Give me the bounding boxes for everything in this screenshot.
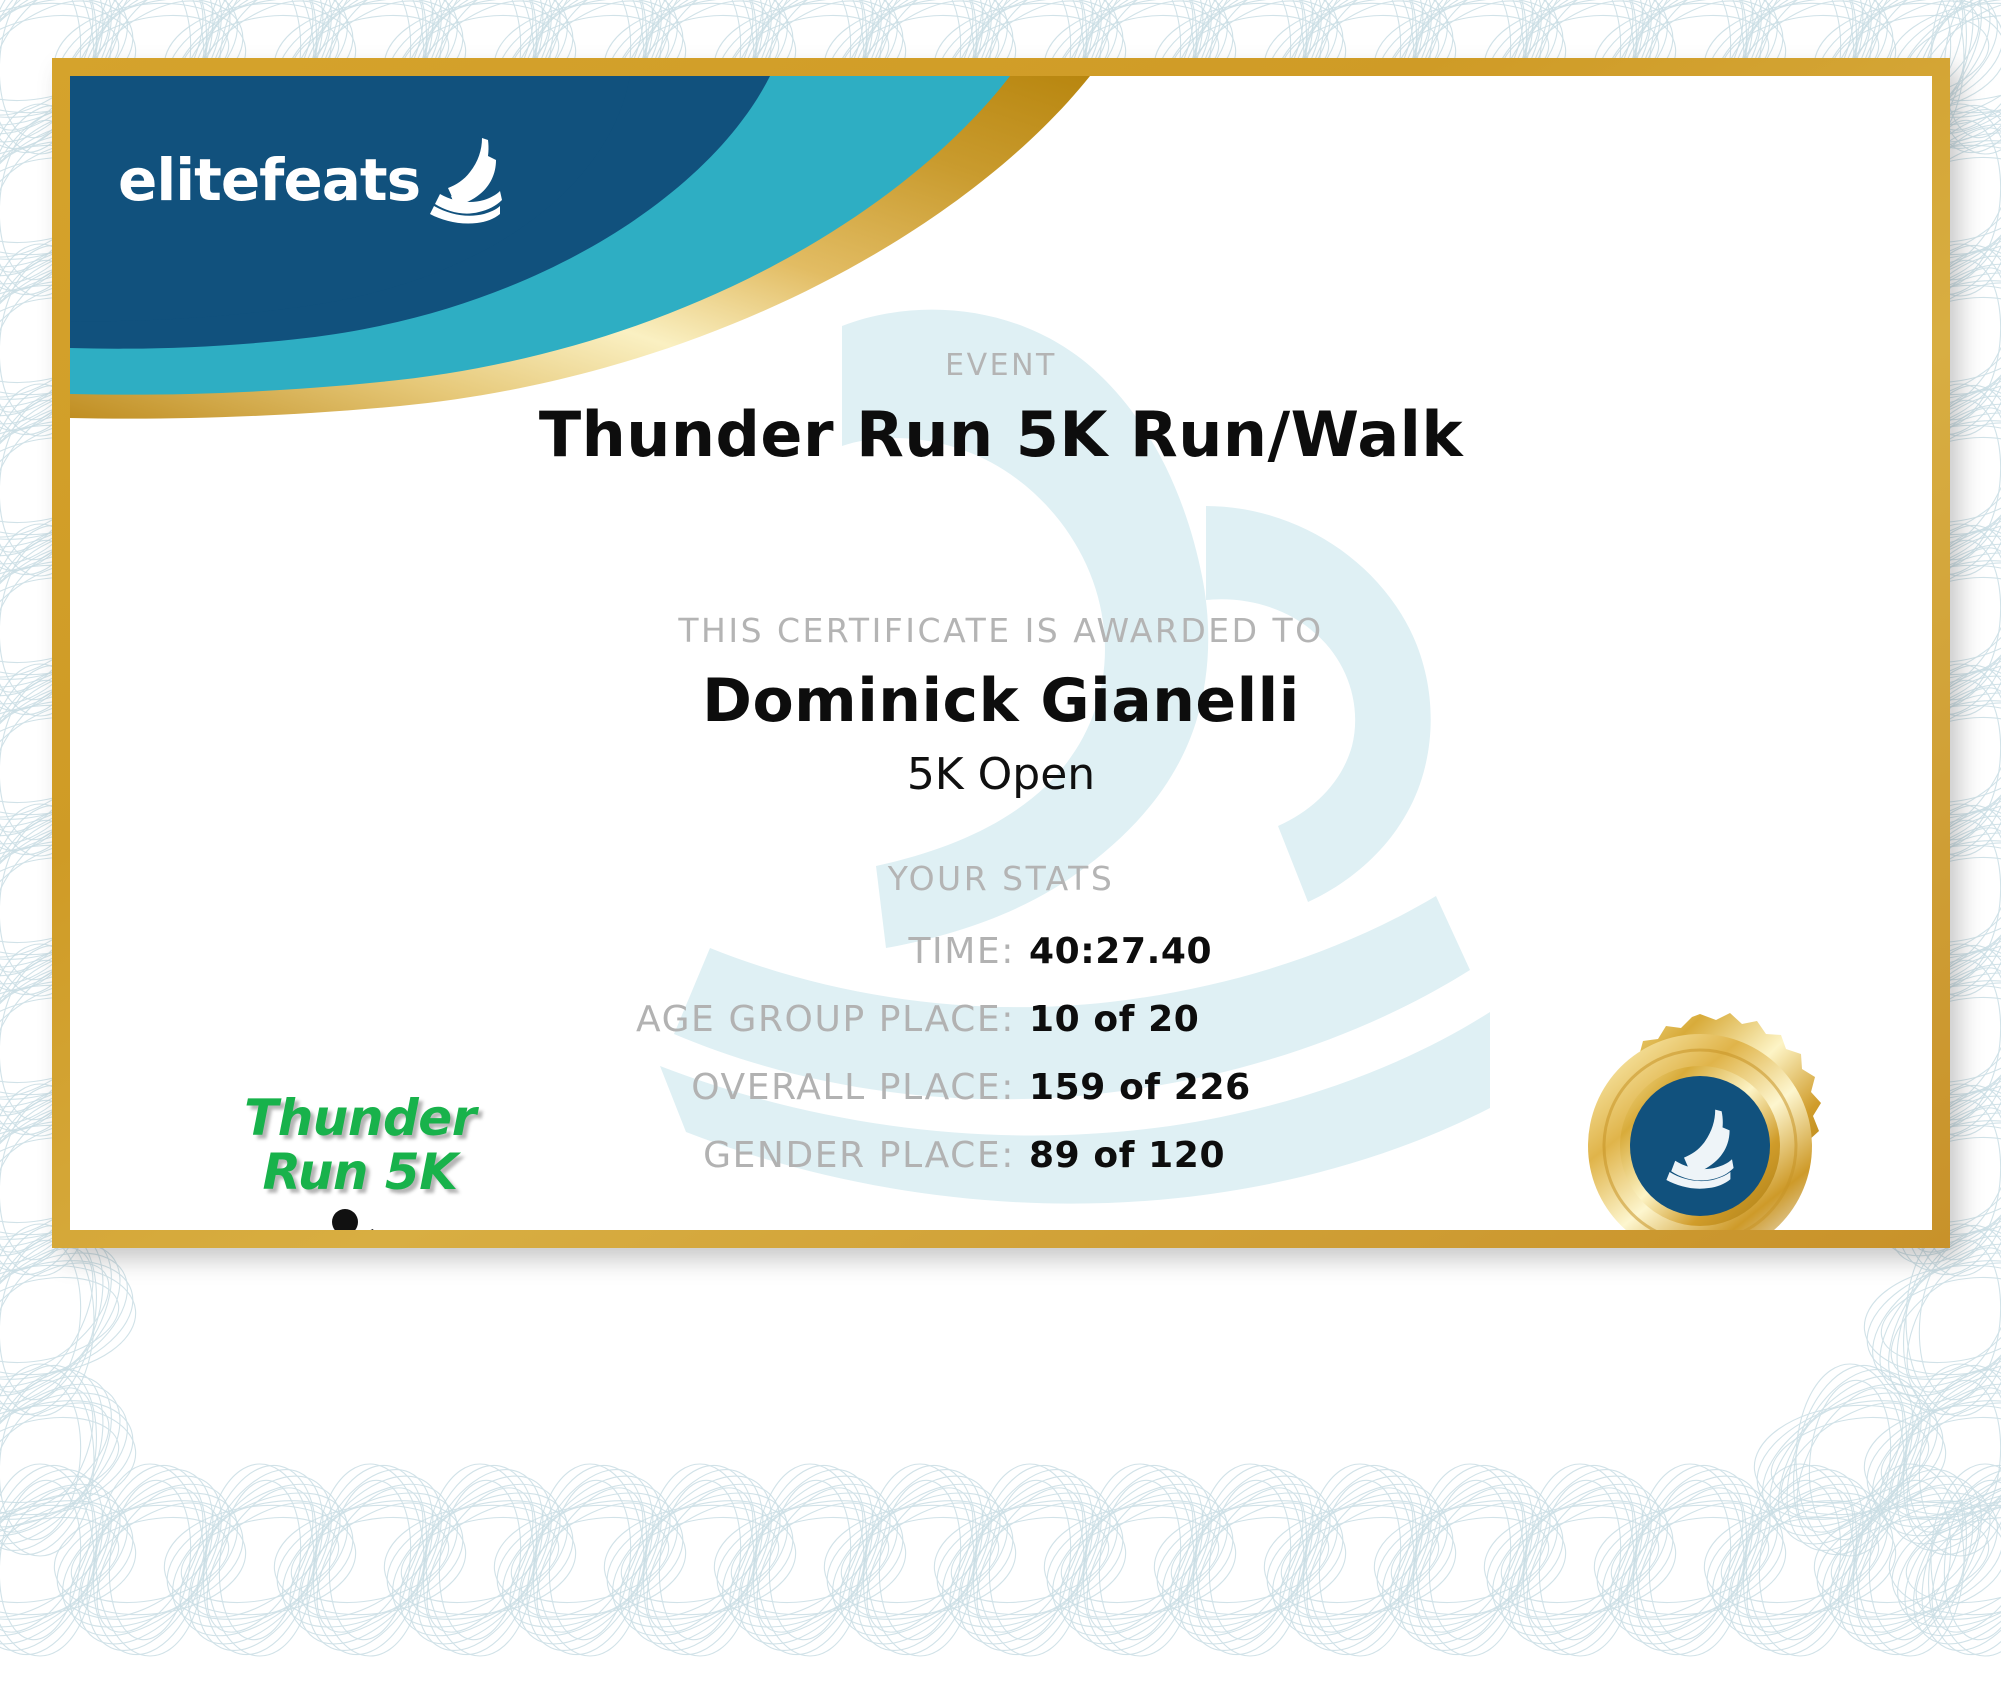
event-label: EVENT bbox=[70, 348, 1932, 383]
race-logo-line-1: Thunder bbox=[205, 1091, 515, 1145]
awarded-to-label: THIS CERTIFICATE IS AWARDED TO bbox=[70, 611, 1932, 650]
stat-row-time: TIME: 40:27.40 bbox=[70, 931, 1932, 999]
race-logo-line-2: Run 5K bbox=[205, 1145, 515, 1199]
stat-value-age-group-place: 10 of 20 bbox=[1029, 999, 1199, 1040]
runner-and-wheelchair-athlete-icon bbox=[245, 1207, 475, 1230]
stat-label-time: TIME: bbox=[70, 931, 1015, 972]
stat-label-age-group-place: AGE GROUP PLACE: bbox=[70, 999, 1015, 1040]
stat-value-overall-place: 159 of 226 bbox=[1029, 1067, 1251, 1108]
stat-value-gender-place: 89 of 120 bbox=[1029, 1135, 1225, 1176]
certificate-content: EVENT Thunder Run 5K Run/Walk THIS CERTI… bbox=[70, 76, 1932, 1230]
stat-value-time: 40:27.40 bbox=[1029, 931, 1212, 972]
finisher-medal: 2023 bbox=[1550, 1011, 1850, 1230]
event-name: Thunder Run 5K Run/Walk bbox=[70, 398, 1932, 471]
athlete-name: Dominick Gianelli bbox=[70, 666, 1932, 736]
your-stats-label: YOUR STATS bbox=[70, 859, 1932, 898]
certificate-body: elitefeats EVENT Thunder Run 5K Run/Walk… bbox=[70, 76, 1932, 1230]
division-name: 5K Open bbox=[70, 749, 1932, 800]
race-logo: Thunder Run 5K bbox=[205, 1091, 515, 1230]
certificate-paper: elitefeats EVENT Thunder Run 5K Run/Walk… bbox=[0, 0, 2001, 1700]
certificate-gold-frame: elitefeats EVENT Thunder Run 5K Run/Walk… bbox=[52, 58, 1950, 1248]
